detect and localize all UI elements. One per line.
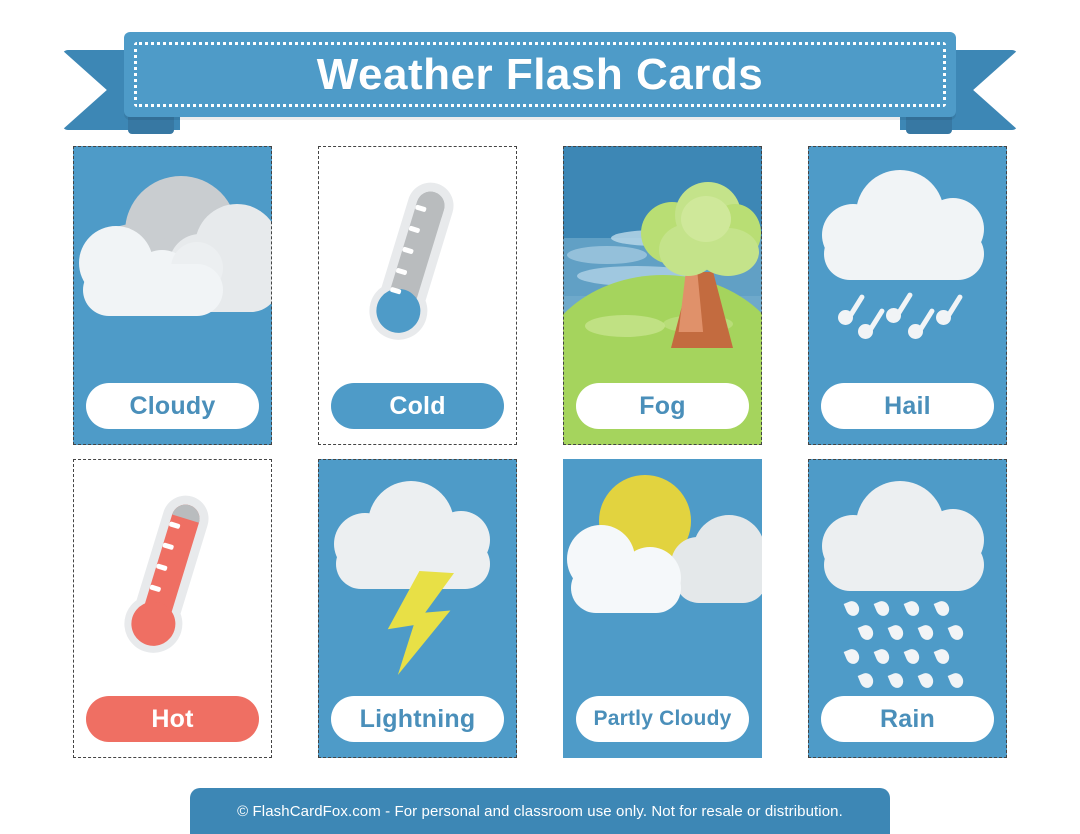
copyright-text: © FlashCardFox.com - For personal and cl… <box>237 803 843 820</box>
raindrop <box>904 647 922 666</box>
page-title: Weather Flash Cards <box>124 32 956 117</box>
card-label-hail: Hail <box>821 383 994 429</box>
banner-plate: Weather Flash Cards <box>124 32 956 117</box>
card-label-fog: Fog <box>576 383 749 429</box>
card-label-rain: Rain <box>821 696 994 742</box>
raindrop <box>888 623 906 642</box>
raindrop <box>948 671 966 690</box>
flash-card-fog[interactable]: Fog <box>563 146 762 445</box>
raindrop <box>858 671 876 690</box>
thermometer-body <box>122 490 215 662</box>
raindrop <box>874 647 892 666</box>
card-label-partly-cloudy: Partly Cloudy <box>576 696 749 742</box>
flash-card-cloudy[interactable]: Cloudy <box>73 146 272 445</box>
footer-bar: © FlashCardFox.com - For personal and cl… <box>190 788 890 834</box>
flash-card-lightning[interactable]: Lightning <box>318 459 517 758</box>
fog-wisp <box>567 246 647 264</box>
raindrop <box>948 623 966 642</box>
raindrop <box>844 647 862 666</box>
raindrop <box>888 671 906 690</box>
card-label-hot: Hot <box>86 696 259 742</box>
tree-leaf-highlight <box>681 196 731 242</box>
cloud-white <box>808 459 1007 619</box>
card-label-cold: Cold <box>331 383 504 429</box>
cloud-front-white <box>563 459 762 629</box>
flash-card-rain[interactable]: Rain <box>808 459 1007 758</box>
thermometer-body <box>367 177 460 349</box>
raindrop <box>918 671 936 690</box>
flash-card-cold[interactable]: Cold <box>318 146 517 445</box>
raindrop <box>934 647 952 666</box>
card-label-lightning: Lightning <box>331 696 504 742</box>
raindrop <box>918 623 936 642</box>
flash-card-partly-cloudy[interactable]: Partly Cloudy <box>563 459 762 758</box>
flash-card-hail[interactable]: Hail <box>808 146 1007 445</box>
flash-card-grid: Cloudy Cold <box>73 146 1008 758</box>
hill-highlight <box>585 315 665 337</box>
title-banner: Weather Flash Cards <box>0 14 1080 134</box>
raindrop <box>858 623 876 642</box>
card-label-cloudy: Cloudy <box>86 383 259 429</box>
flash-card-hot[interactable]: Hot <box>73 459 272 758</box>
cloud-front-white <box>73 146 272 376</box>
